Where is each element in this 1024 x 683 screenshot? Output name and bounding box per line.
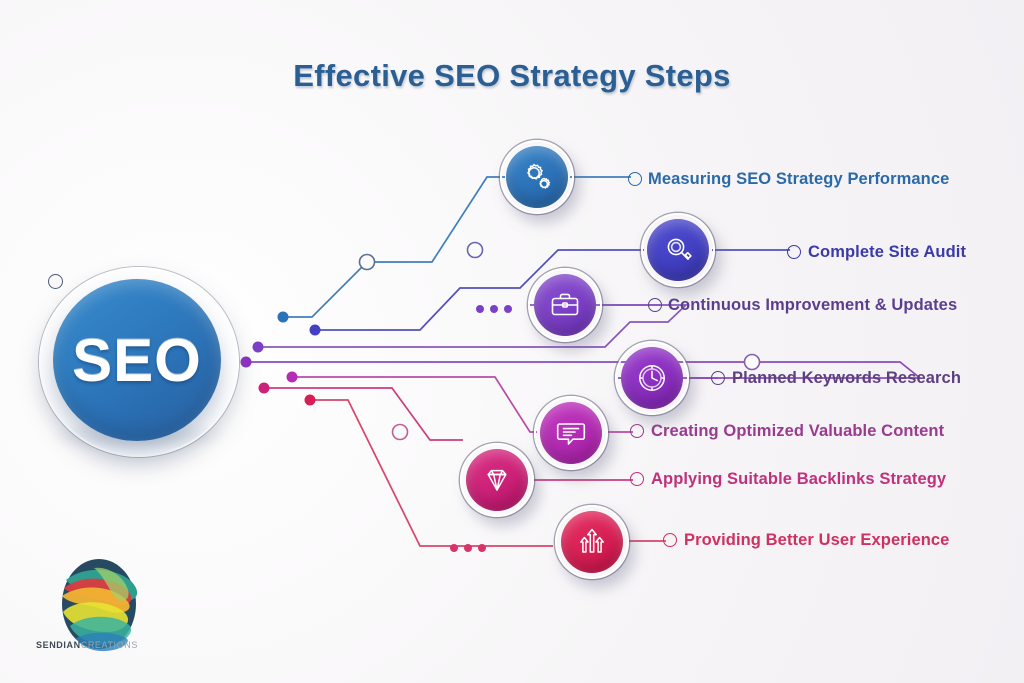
step-bullet-planned-keywords-research: [711, 371, 725, 385]
decor-dots-lower: [450, 544, 486, 552]
step-bullet-applying-suitable-backlinks-strategy: [630, 472, 644, 486]
step-bullet-creating-optimized-valuable-content: [630, 424, 644, 438]
gears-icon: [520, 160, 554, 194]
decor-dots-upper: [476, 305, 512, 313]
brand-name-bold: SENDIAN: [36, 640, 81, 650]
step-icon-measuring-seo-strategy-performance[interactable]: [500, 140, 574, 214]
briefcase-icon: [548, 288, 582, 322]
step-label-complete-site-audit: Complete Site Audit: [808, 243, 966, 262]
step-label-applying-suitable-backlinks-strategy: Applying Suitable Backlinks Strategy: [651, 470, 946, 489]
infographic-canvas: Effective SEO Strategy Steps: [0, 0, 1024, 683]
step-icon-planned-keywords-research[interactable]: [615, 341, 689, 415]
seo-hub-label: SEO: [72, 326, 202, 395]
step-label-providing-better-user-experience: Providing Better User Experience: [684, 531, 949, 550]
step-icon-applying-suitable-backlinks-strategy[interactable]: [460, 443, 534, 517]
step-label-measuring-seo-strategy-performance: Measuring SEO Strategy Performance: [648, 170, 949, 189]
step-label-creating-optimized-valuable-content: Creating Optimized Valuable Content: [651, 422, 944, 441]
clock-icon: [635, 361, 669, 395]
seo-hub[interactable]: SEO: [35, 265, 240, 455]
step-bullet-providing-better-user-experience: [663, 533, 677, 547]
seo-hub-disc: SEO: [53, 279, 221, 441]
step-icon-continuous-improvement-updates[interactable]: [528, 268, 602, 342]
step-icon-providing-better-user-experience[interactable]: [555, 505, 629, 579]
step-icon-complete-site-audit[interactable]: [641, 213, 715, 287]
step-bullet-measuring-seo-strategy-performance: [628, 172, 642, 186]
step-label-planned-keywords-research: Planned Keywords Research: [732, 369, 961, 388]
step-bullet-continuous-improvement-updates: [648, 298, 662, 312]
seo-hub-node-icon: [48, 274, 63, 289]
brand-name-light: CREATIONS: [81, 640, 138, 650]
brand-name: SENDIANCREATIONS: [36, 640, 138, 650]
step-icon-creating-optimized-valuable-content[interactable]: [534, 396, 608, 470]
magnifier-icon: [661, 233, 695, 267]
step-bullet-complete-site-audit: [787, 245, 801, 259]
chat-bubble-icon: [554, 416, 588, 450]
growth-arrows-icon: [575, 525, 609, 559]
step-label-continuous-improvement-updates: Continuous Improvement & Updates: [668, 296, 957, 315]
diamond-icon: [480, 463, 514, 497]
